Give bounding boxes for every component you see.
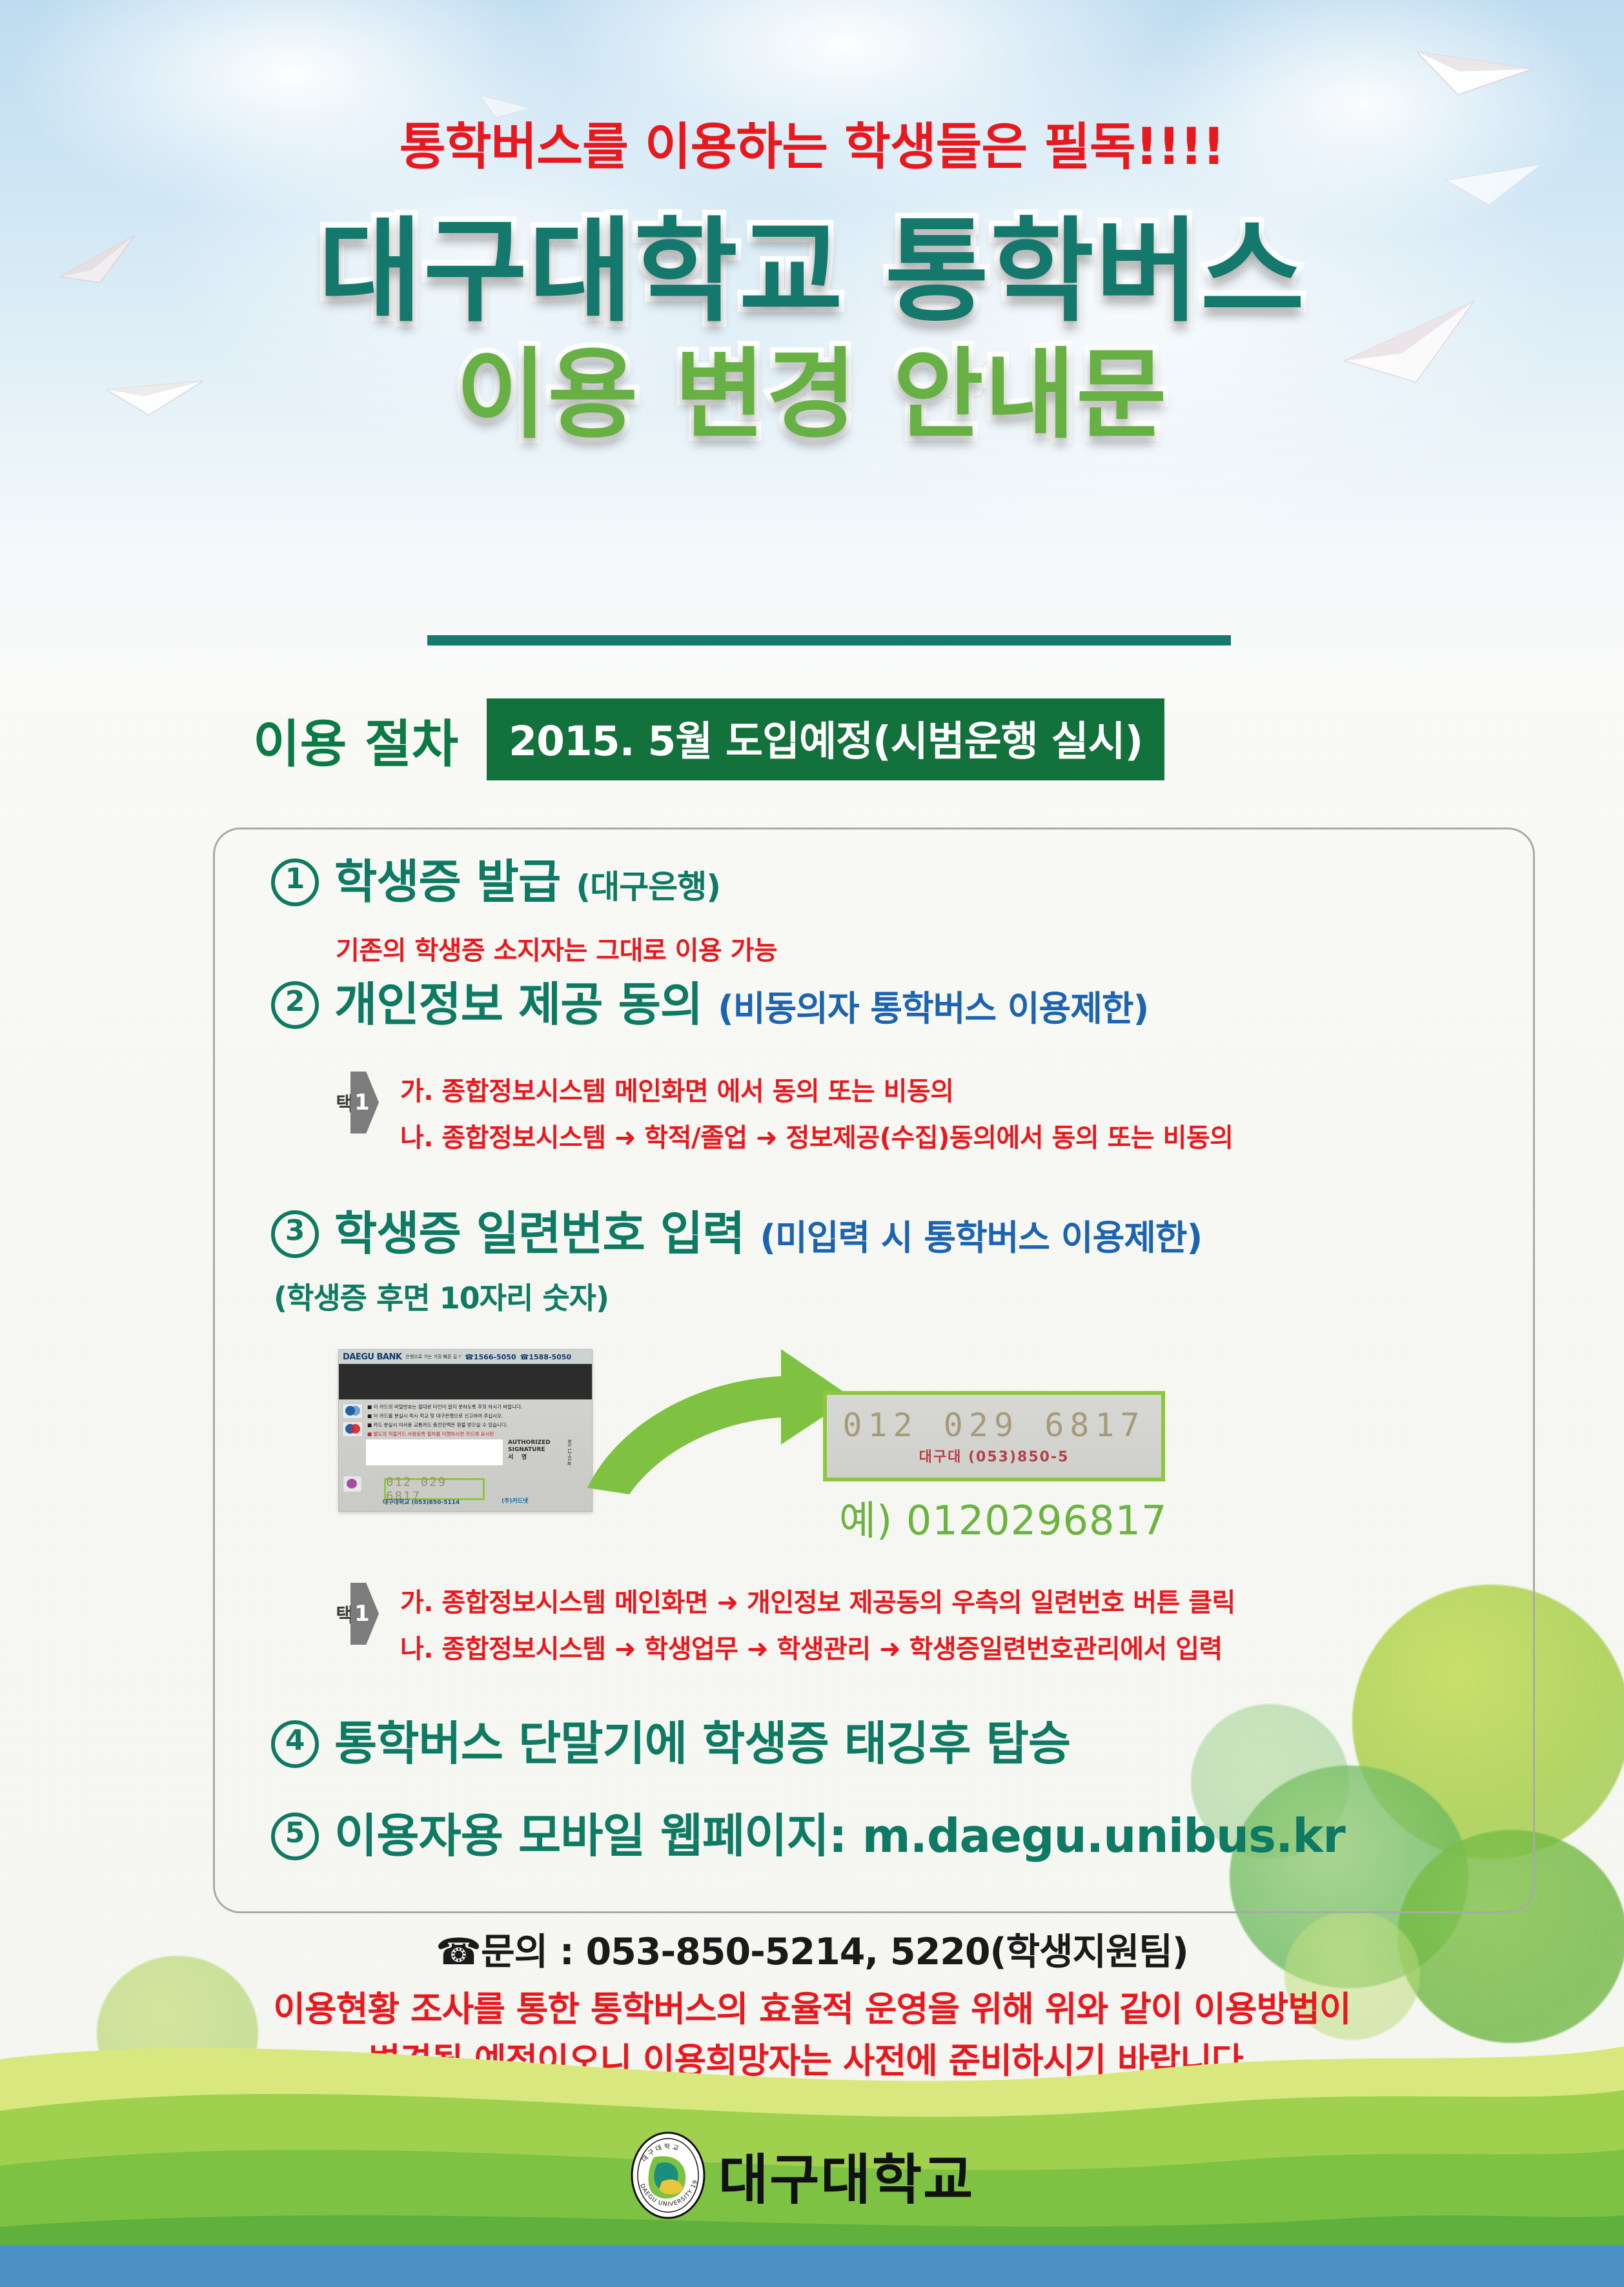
step-3-paren: (미입력 시 통학버스 이용제한) bbox=[760, 1217, 1202, 1258]
poster-title: 대구대학교 통학버스 이용 변경 안내문 bbox=[0, 213, 1624, 446]
card-phone-1: ☎1566-5050 bbox=[465, 1353, 516, 1361]
step-number-4: 4 bbox=[271, 1720, 319, 1768]
university-name: 대구대학교 bbox=[718, 2137, 974, 2215]
step-5: 5 이용자용 모바일 웹페이지: m.daegu.unibus.kr bbox=[271, 1813, 1345, 1860]
card-authorized-signature: AUTHORIZEDSIGNATURE서 명 bbox=[508, 1439, 551, 1461]
card-note: ■ 이 카드의 비밀번호는 절대로 타인이 알지 못하도록 주의 하시기 바랍니… bbox=[367, 1403, 561, 1410]
green-arrow-icon bbox=[568, 1336, 865, 1498]
poster-root: 통학버스를 이용하는 학생들은 필독!!!! 대구대학교 통학버스 이용 변경 … bbox=[0, 0, 1624, 2287]
card-school-contact: 대구대학교 (053)850-5114 bbox=[383, 1498, 460, 1506]
serial-example-text: 예) 0120296817 bbox=[839, 1488, 1167, 1546]
step-2-option-b: 나. 종합정보시스템 ➜ 학적/졸업 ➜ 정보제공(수집)동의에서 동의 또는 … bbox=[400, 1117, 1233, 1154]
pick-arrow-icon: 1 bbox=[350, 1583, 379, 1645]
headline-text: 통학버스를 이용하는 학생들은 필독!!!! bbox=[0, 107, 1624, 179]
pick-arrow-icon: 1 bbox=[350, 1072, 379, 1133]
card-serial-number: 012 029 6817 bbox=[384, 1478, 485, 1500]
university-logo: 대 구 대 학 교 DAEGU UNIVERSITY 1956 대구대학교 bbox=[629, 2130, 974, 2221]
card-magnetic-stripe bbox=[339, 1364, 592, 1399]
step-number-5: 5 bbox=[271, 1813, 319, 1860]
step-2-title: 개인정보 제공 동의 (비동의자 통학버스 이용제한) bbox=[334, 981, 1148, 1028]
step-1-title: 학생증 발급 (대구은행) bbox=[334, 859, 720, 906]
step-3-title: 학생증 일련번호 입력 (미입력 시 통학버스 이용제한) bbox=[334, 1210, 1202, 1257]
card-note: ■ 별도의 직불카드 사용등록 절차를 이행하시면 카드에 표시된 bbox=[367, 1430, 561, 1438]
card-note: ■ 카드 분실시 미사용 교통카드 충전잔액은 환불 받으실 수 있습니다. bbox=[367, 1421, 561, 1428]
zoom-serial-number: 012 029 6817 bbox=[842, 1407, 1145, 1444]
procedure-label: 이용 절차 bbox=[253, 702, 458, 777]
step-3-option-b: 나. 종합정보시스템 ➜ 학생업무 ➜ 학생관리 ➜ 학생증일련번호관리에서 입… bbox=[400, 1628, 1235, 1665]
pick-one-marker-3: 택 1 bbox=[332, 1583, 379, 1645]
card-bank-header: DAEGU BANK 은행으로 가는 가장 빠른 길 ? ☎1566-5050 … bbox=[339, 1350, 592, 1364]
step-5-title: 이용자용 모바일 웹페이지: m.daegu.unibus.kr bbox=[334, 1813, 1345, 1860]
pick-label-2: 택 bbox=[332, 1093, 352, 1112]
step-1: 1 학생증 발급 (대구은행) bbox=[271, 859, 720, 906]
card-signature-box bbox=[366, 1439, 503, 1465]
step-1-title-text: 학생증 발급 bbox=[334, 855, 560, 909]
step-2-paren: (비동의자 통학버스 이용제한) bbox=[718, 988, 1148, 1029]
step-4-title: 통학버스 단말기에 학생증 태깅후 탑승 bbox=[334, 1720, 1070, 1767]
divider-rule bbox=[427, 635, 1231, 645]
card-brand: (주)카드넷 bbox=[502, 1496, 528, 1505]
notice-line-1: 이용현황 조사를 통한 통학버스의 효율적 운영을 위해 위와 같이 이용방법이 bbox=[0, 1980, 1624, 2031]
pick-number-3: 1 bbox=[354, 1601, 370, 1627]
pick-label-3: 택 bbox=[332, 1605, 352, 1623]
student-card-image: DAEGU BANK 은행으로 가는 가장 빠른 길 ? ☎1566-5050 … bbox=[338, 1349, 593, 1512]
title-line-1: 대구대학교 통학버스 bbox=[0, 213, 1624, 332]
procedure-banner: 2015. 5월 도입예정(시범운행 실시) bbox=[487, 698, 1164, 780]
title-line-2: 이용 변경 안내문 bbox=[0, 343, 1624, 447]
step-1-note: 기존의 학생증 소지자는 그대로 이용 가능 bbox=[336, 930, 777, 967]
pick-number-2: 1 bbox=[354, 1090, 370, 1115]
cirrus-logo-icon bbox=[342, 1403, 363, 1419]
step-3: 3 학생증 일련번호 입력 (미입력 시 통학버스 이용제한) bbox=[271, 1210, 1202, 1258]
bottom-bar bbox=[0, 2245, 1624, 2287]
card-body: ■ 이 카드의 비밀번호는 절대로 타인이 알지 못하도록 주의 하시기 바랍니… bbox=[339, 1399, 592, 1512]
step-3-subtitle: (학생증 후면 10자리 숫자) bbox=[274, 1275, 609, 1317]
contact-line: ☎문의 : 053-850-5214, 5220(학생지원팀) bbox=[0, 1922, 1624, 1975]
step-4: 4 통학버스 단말기에 학생증 태깅후 탑승 bbox=[271, 1720, 1070, 1768]
step-1-paren: (대구은행) bbox=[576, 868, 720, 906]
card-phone-2: ☎1588-5050 bbox=[520, 1353, 572, 1361]
step-3-title-text: 학생증 일련번호 입력 bbox=[334, 1206, 744, 1261]
card-bank-name: DAEGU BANK bbox=[343, 1352, 401, 1362]
step-2-option-a: 가. 종합정보시스템 메인화면 에서 동의 또는 비동의 bbox=[400, 1070, 1233, 1108]
procedure-header: 이용 절차 2015. 5월 도입예정(시범운행 실시) bbox=[253, 698, 1164, 780]
step-2-title-text: 개인정보 제공 동의 bbox=[334, 977, 702, 1032]
card-note: ■ 이 카드를 분실시 즉시 학교 및 대구은행으로 신고하여 주십시오. bbox=[367, 1412, 561, 1419]
card-chip-icon bbox=[343, 1476, 362, 1492]
maestro-logo-icon bbox=[342, 1421, 363, 1437]
step-number-1: 1 bbox=[271, 859, 319, 906]
pick-one-marker-2: 택 1 bbox=[332, 1072, 379, 1133]
step-3-option-a: 가. 종합정보시스템 메인화면 ➜ 개인정보 제공동의 우측의 일련번호 버튼 … bbox=[400, 1581, 1235, 1619]
step-3-options: 가. 종합정보시스템 메인화면 ➜ 개인정보 제공동의 우측의 일련번호 버튼 … bbox=[400, 1581, 1235, 1674]
step-number-2: 2 bbox=[271, 981, 319, 1029]
university-seal-icon: 대 구 대 학 교 DAEGU UNIVERSITY 1956 bbox=[629, 2130, 707, 2221]
step-2: 2 개인정보 제공 동의 (비동의자 통학버스 이용제한) bbox=[271, 981, 1148, 1029]
step-2-options: 가. 종합정보시스템 메인화면 에서 동의 또는 비동의 나. 종합정보시스템 … bbox=[400, 1070, 1233, 1163]
card-network-logos bbox=[342, 1403, 363, 1439]
zoom-under-text: 대구대 (053)850-5 bbox=[919, 1445, 1070, 1466]
serial-zoom-crop: 012 029 6817 대구대 (053)850-5 bbox=[823, 1391, 1165, 1481]
step-number-3: 3 bbox=[271, 1210, 319, 1258]
card-bank-tagline: 은행으로 가는 가장 빠른 길 ? bbox=[405, 1354, 461, 1360]
